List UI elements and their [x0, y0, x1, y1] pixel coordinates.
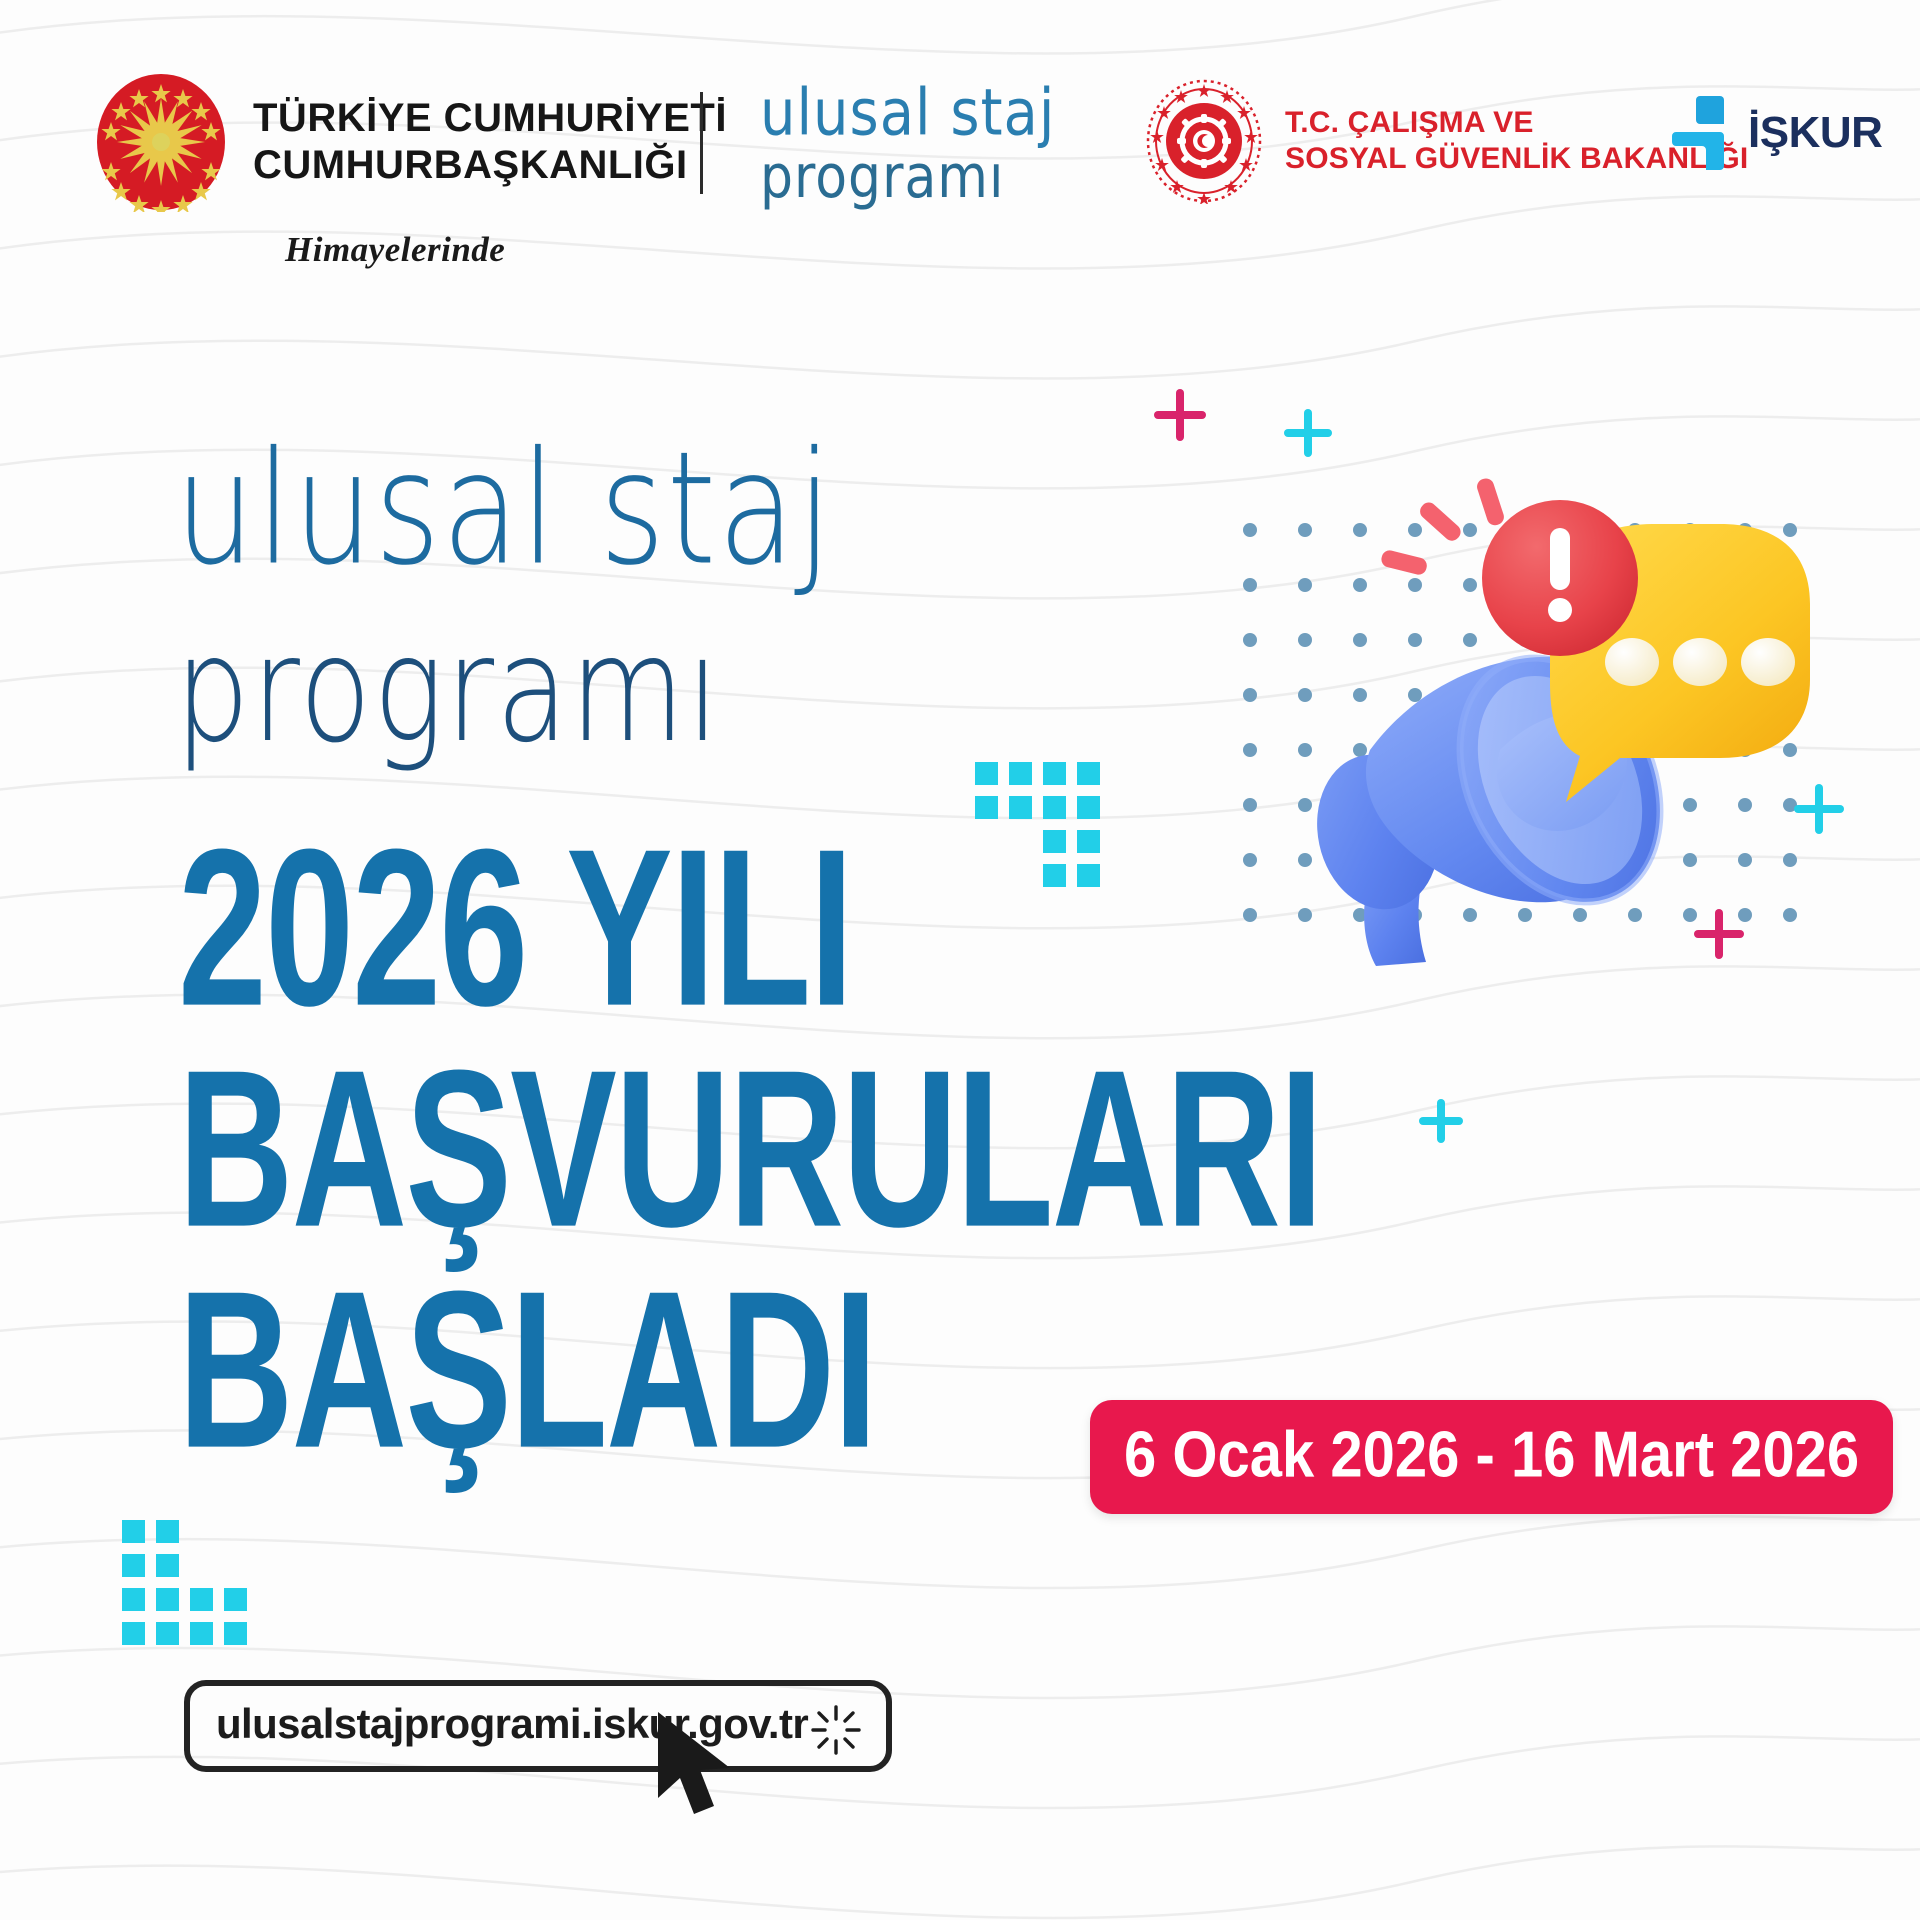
- turkish-presidency-emblem: [95, 72, 227, 212]
- presidency-title: TÜRKİYE CUMHURİYETİ CUMHURBAŞKANLIĞI: [253, 95, 727, 189]
- deco-square: [156, 1554, 179, 1577]
- deco-square: [224, 1622, 247, 1645]
- plus-cyan-icon-3: [1415, 1095, 1467, 1147]
- deco-square: [156, 1520, 179, 1543]
- patronage-label: Himayelerinde: [285, 230, 505, 270]
- program-logo-small: ulusal staj programı: [760, 84, 1055, 198]
- website-url-pill[interactable]: ulusalstajprogrami.iskur.gov.tr: [184, 1680, 892, 1772]
- deco-square: [122, 1622, 145, 1645]
- deco-square: [122, 1520, 145, 1543]
- deco-square: [1043, 796, 1066, 819]
- plus-pink-icon-1: [1150, 385, 1210, 445]
- headline-line-2: BAŞVURULARI: [178, 1041, 1322, 1258]
- deco-square: [122, 1588, 145, 1611]
- iskur-logo-group: İŞKUR: [1672, 96, 1882, 170]
- square-pattern-bottom: [122, 1520, 262, 1650]
- program-logo-line1: ulusal staj: [760, 84, 1055, 144]
- ministry-logo-group: T.C. ÇALIŞMA VE SOSYAL GÜVENLİK BAKANLIĞ…: [1145, 78, 1748, 204]
- iskur-label: İŞKUR: [1748, 108, 1882, 158]
- wordmark-line1: ulusal staj: [175, 432, 834, 588]
- header-logo-bar: TÜRKİYE CUMHURİYETİ CUMHURBAŞKANLIĞI Him…: [0, 0, 1920, 280]
- application-date-range: 6 Ocak 2026 - 16 Mart 2026: [1124, 1423, 1859, 1488]
- application-date-badge: 6 Ocak 2026 - 16 Mart 2026: [1090, 1400, 1893, 1514]
- deco-square: [190, 1588, 213, 1611]
- headline-line-1: 2026 YILI: [178, 820, 1322, 1037]
- deco-square: [122, 1554, 145, 1577]
- presidency-line1: TÜRKİYE CUMHURİYETİ: [253, 95, 727, 142]
- deco-square: [1077, 762, 1100, 785]
- presidency-logo-group: TÜRKİYE CUMHURİYETİ CUMHURBAŞKANLIĞI: [95, 72, 727, 212]
- deco-square: [156, 1622, 179, 1645]
- poster-canvas: TÜRKİYE CUMHURİYETİ CUMHURBAŞKANLIĞI Him…: [0, 0, 1920, 1920]
- deco-square: [224, 1588, 247, 1611]
- mouse-cursor-icon: [652, 1710, 744, 1822]
- deco-square: [1077, 796, 1100, 819]
- iskur-logo-mark: [1672, 96, 1734, 170]
- program-wordmark: ulusal staj programı: [175, 432, 847, 738]
- deco-square: [975, 796, 998, 819]
- header-divider: [700, 92, 703, 194]
- presidency-line2: CUMHURBAŞKANLIĞI: [253, 142, 727, 189]
- wordmark-line2: programı: [175, 618, 834, 764]
- main-headline: 2026 YILI BAŞVURULARI BAŞLADI: [178, 820, 1408, 1428]
- ministry-of-labour-emblem: [1145, 78, 1263, 204]
- deco-square: [975, 762, 998, 785]
- click-sparkle-icon: [808, 1702, 864, 1758]
- deco-square: [1043, 762, 1066, 785]
- deco-square: [1009, 762, 1032, 785]
- deco-square: [190, 1622, 213, 1645]
- deco-square: [1009, 796, 1032, 819]
- deco-square: [156, 1588, 179, 1611]
- program-logo-line2: programı: [760, 150, 1055, 206]
